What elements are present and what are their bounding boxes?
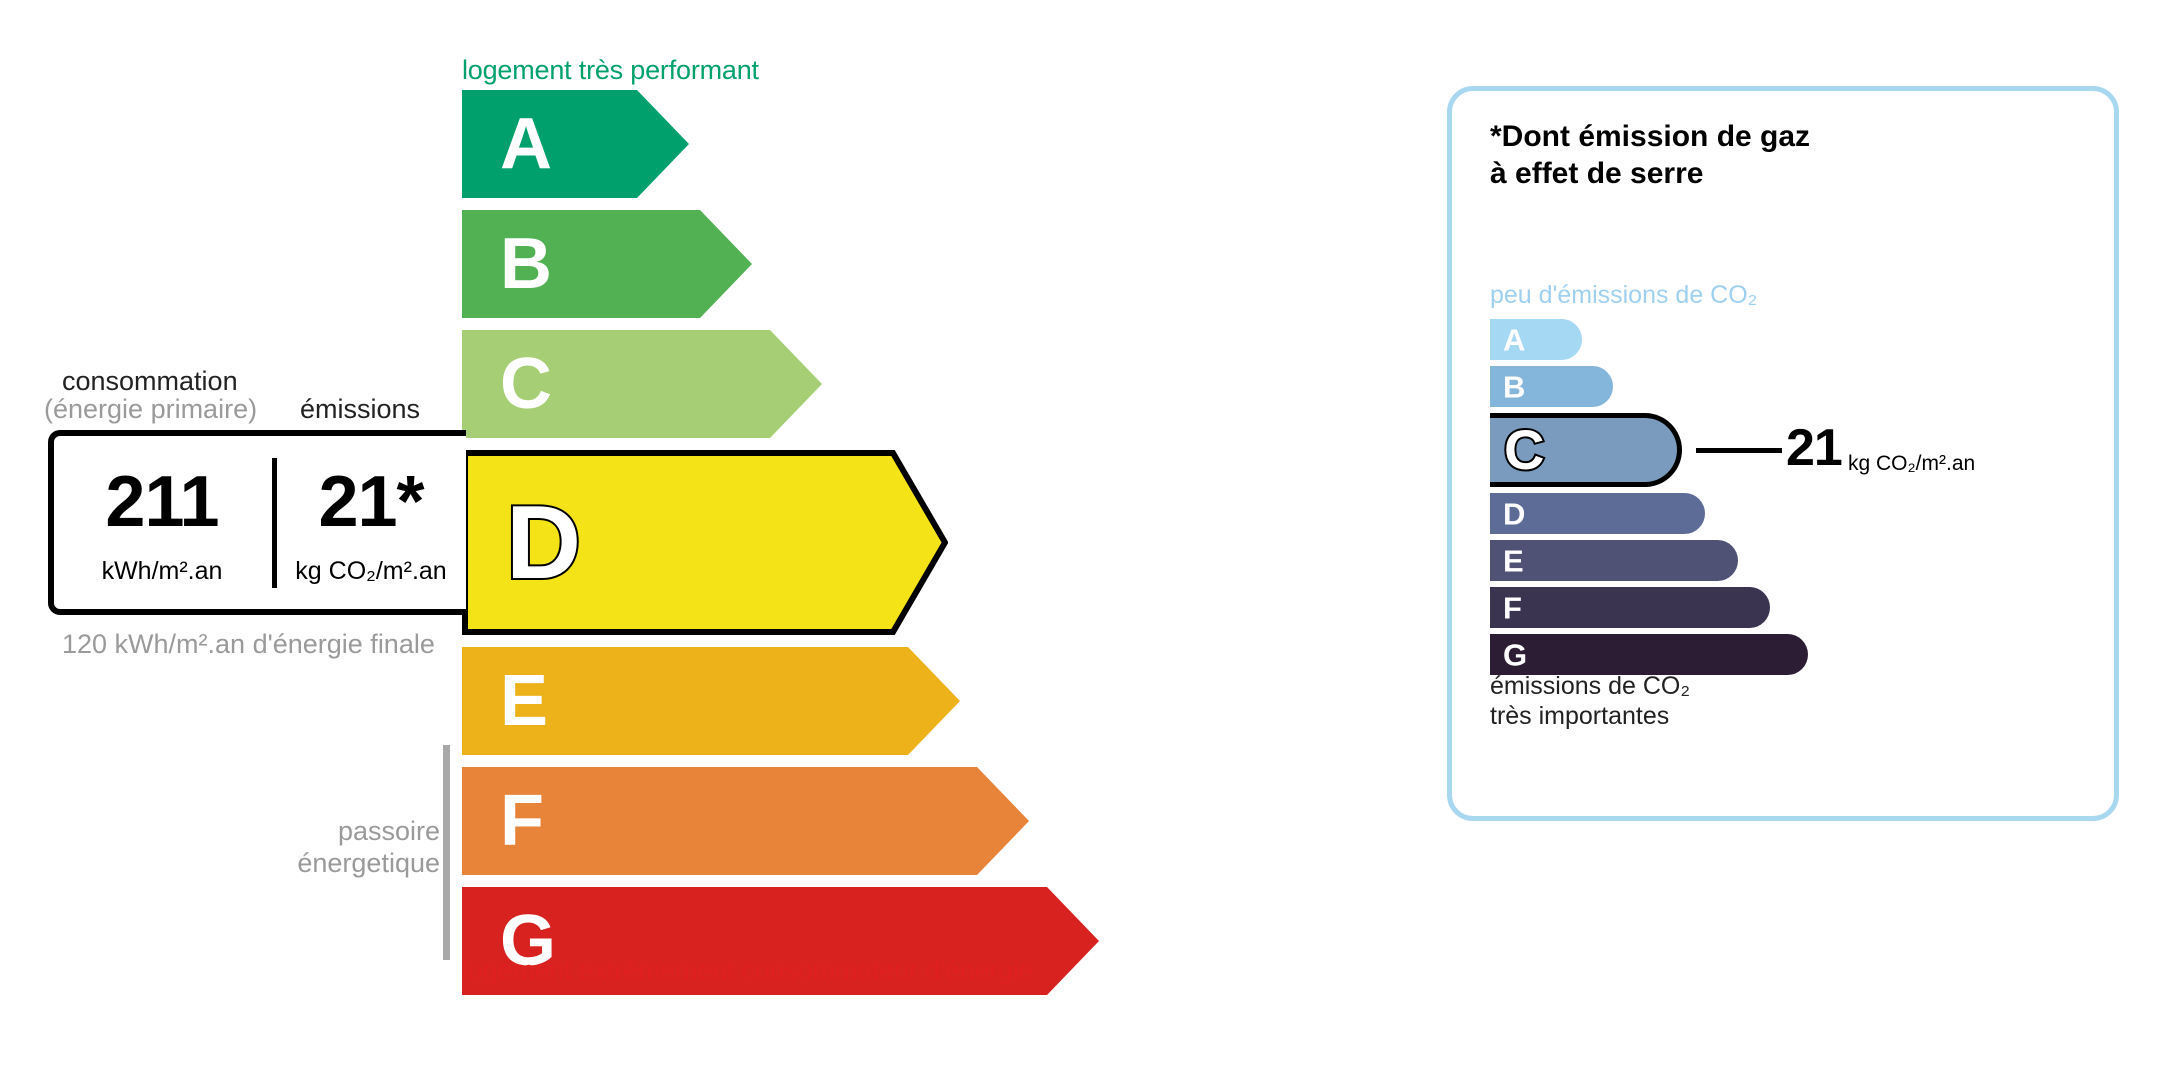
label-consommation: consommation xyxy=(62,366,238,397)
energy-band-a: A xyxy=(462,90,689,198)
energy-band-b: B xyxy=(462,210,752,318)
energy-band-f: F xyxy=(462,767,1029,875)
ges-panel-title: *Dont émission de gaz à effet de serre xyxy=(1490,119,1810,192)
ges-bar-g: G xyxy=(1490,634,1808,675)
ges-panel: *Dont émission de gaz à effet de serre p… xyxy=(1447,86,2119,821)
energy-band-letter-f: F xyxy=(500,785,544,857)
energy-value-box: 211 kWh/m².an 21* kg CO₂/m².an xyxy=(48,430,466,615)
label-passoire-energetique: passoire énergetique xyxy=(250,815,440,880)
emission-value: 21* xyxy=(278,466,464,538)
energy-band-d: D xyxy=(462,450,948,635)
energy-performance-diagram: logement très performant ABCDEFG 211 kWh… xyxy=(0,0,1300,1079)
consumption-cell: 211 kWh/m².an xyxy=(54,436,270,609)
ges-bottom-caption: émissions de CO₂ très importantes xyxy=(1490,671,1690,731)
ges-bar-c: C xyxy=(1490,413,1682,487)
ges-bar-d: D xyxy=(1490,493,1705,534)
ges-value-unit: kg CO₂/m².an xyxy=(1848,453,1975,474)
energy-band-e: E xyxy=(462,647,960,755)
energy-band-letter-d: D xyxy=(506,491,581,595)
ges-bar-b: B xyxy=(1490,366,1613,407)
ges-bar-a: A xyxy=(1490,319,1582,360)
ges-top-caption: peu d'émissions de CO₂ xyxy=(1490,281,1757,310)
label-final-energy: 120 kWh/m².an d'énergie finale xyxy=(62,628,435,660)
ges-bar-e: E xyxy=(1490,540,1738,581)
ges-bar-f: F xyxy=(1490,587,1770,628)
ges-bar-letter-d: D xyxy=(1503,498,1525,529)
emission-cell: 21* kg CO₂/m².an xyxy=(278,436,464,609)
ges-bar-letter-a: A xyxy=(1503,324,1525,355)
consumption-unit: kWh/m².an xyxy=(54,558,270,586)
ges-bar-letter-c: C xyxy=(1504,422,1544,478)
energy-top-caption: logement très performant xyxy=(462,55,759,86)
label-emissions: émissions xyxy=(300,394,420,425)
ges-value: 21 xyxy=(1786,422,1842,474)
value-box-divider xyxy=(272,458,277,588)
energy-band-letter-a: A xyxy=(500,108,552,180)
ges-bar-letter-f: F xyxy=(1503,592,1522,623)
ges-bar-letter-g: G xyxy=(1503,639,1527,670)
emission-unit: kg CO₂/m².an xyxy=(278,558,464,586)
energy-band-letter-e: E xyxy=(500,665,548,737)
energy-bottom-caption: logement extrêmement consommateur d'éner… xyxy=(462,955,1033,986)
passoire-bracket xyxy=(443,745,450,960)
label-energie-primaire: (énergie primaire) xyxy=(44,394,257,425)
ges-bar-letter-e: E xyxy=(1503,545,1524,576)
energy-band-letter-c: C xyxy=(500,348,552,420)
ges-leader-line xyxy=(1696,448,1782,453)
ges-bar-letter-b: B xyxy=(1503,371,1525,402)
consumption-value: 211 xyxy=(54,466,270,538)
energy-band-c: C xyxy=(462,330,822,438)
energy-band-letter-b: B xyxy=(500,228,552,300)
